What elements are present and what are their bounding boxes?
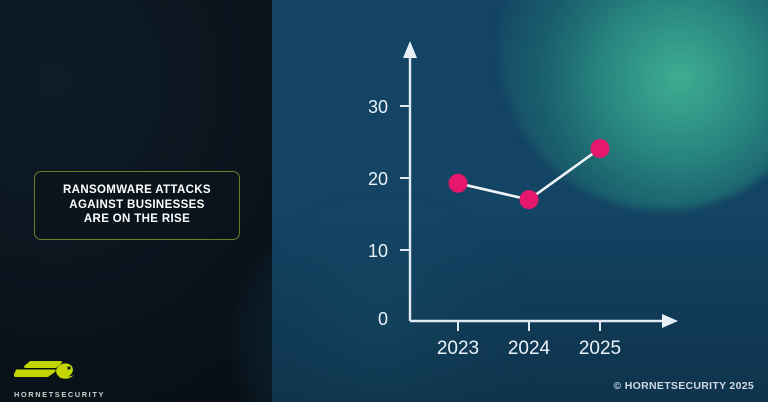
data-point-2024 — [520, 190, 539, 209]
y-tick-label-0: 0 — [378, 309, 388, 329]
x-axis-ticks — [458, 321, 600, 331]
x-axis-labels: 2023 2024 2025 — [437, 338, 621, 359]
brand-logo: HORNETSECURITY — [14, 357, 134, 399]
y-tick-label-30: 30 — [368, 97, 388, 117]
x-tick-label-2023: 2023 — [437, 338, 479, 359]
data-point-2025 — [591, 139, 610, 158]
x-axis-arrow — [662, 314, 678, 328]
chart-axes — [403, 41, 678, 328]
data-point-2023 — [449, 174, 468, 193]
infographic-canvas: RANSOMWARE ATTACKS AGAINST BUSINESSES AR… — [0, 0, 768, 402]
headline-box: RANSOMWARE ATTACKS AGAINST BUSINESSES AR… — [34, 171, 240, 240]
brand-wordmark: HORNETSECURITY — [14, 390, 134, 399]
x-tick-label-2025: 2025 — [579, 338, 621, 359]
headline-text: RANSOMWARE ATTACKS AGAINST BUSINESSES AR… — [45, 183, 229, 227]
y-axis-arrow — [403, 41, 417, 58]
y-axis-labels: 30 20 10 0 — [368, 97, 388, 329]
copyright-text: © HORNETSECURITY 2025 — [614, 380, 754, 392]
y-tick-label-20: 20 — [368, 169, 388, 189]
x-tick-label-2024: 2024 — [508, 338, 551, 359]
line-chart: 30 20 10 0 2023 2024 2025 — [272, 0, 768, 402]
series-points — [449, 139, 610, 209]
hornet-logo-icon — [14, 357, 134, 388]
y-axis-ticks — [400, 106, 410, 250]
y-tick-label-10: 10 — [368, 241, 388, 261]
